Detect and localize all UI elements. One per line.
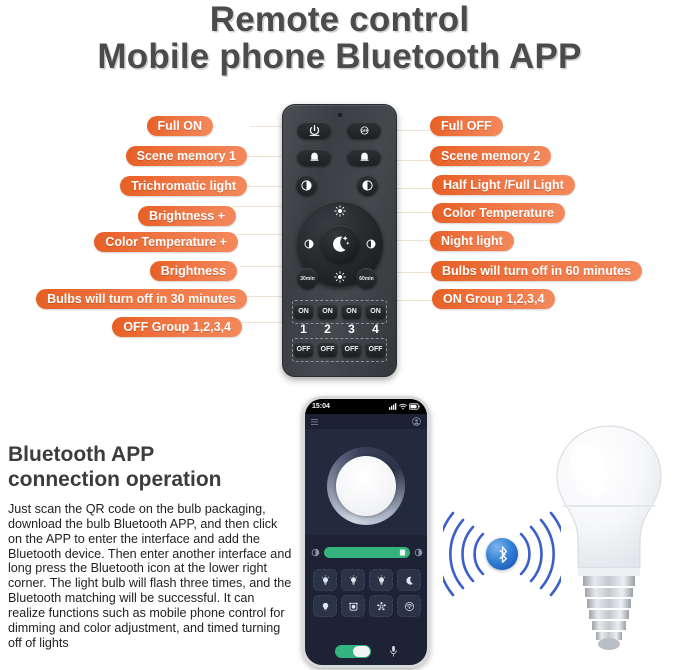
night-light-button[interactable] xyxy=(321,225,359,263)
callout-scene-memory-1[interactable]: Scene memory 1 xyxy=(126,146,247,166)
bell-icon xyxy=(308,151,321,164)
bluetooth-icon xyxy=(495,546,510,563)
tile-bulb-plain[interactable] xyxy=(313,595,337,617)
callout-night-light[interactable]: Night light xyxy=(430,231,514,251)
group-2-off-button[interactable]: OFF xyxy=(318,342,337,357)
battery-icon xyxy=(409,403,420,410)
group-4-number: 4 xyxy=(366,321,385,337)
phone-bottom-bar xyxy=(305,641,427,661)
half-circle-icon xyxy=(361,179,374,192)
bulb-icon xyxy=(320,575,331,586)
section-heading-line-2: connection operation xyxy=(8,468,288,493)
section-heading: Bluetooth APP connection operation xyxy=(8,443,288,493)
color-temp-icon xyxy=(300,179,313,192)
svg-text:OFF: OFF xyxy=(360,129,368,133)
page-title: Remote control Mobile phone Bluetooth AP… xyxy=(0,0,679,76)
bulb-icon xyxy=(348,575,359,586)
bluetooth-connection-graphic xyxy=(443,506,561,602)
smartphone-mockup: 15:04 xyxy=(302,396,430,668)
bulb-icon xyxy=(320,601,331,612)
section-body-text: Just scan the QR code on the bulb packag… xyxy=(8,502,294,651)
microphone-icon xyxy=(389,645,398,657)
callout-scene-memory-2[interactable]: Scene memory 2 xyxy=(430,146,551,166)
callout-trichromatic-light[interactable]: Trichromatic light xyxy=(120,176,247,196)
timer-30min-label: 30min xyxy=(300,276,314,282)
off-button[interactable]: OFF xyxy=(347,122,381,139)
color-temp-icon xyxy=(365,238,377,250)
dial-center[interactable] xyxy=(336,456,396,516)
connector-right-3 xyxy=(392,188,436,189)
callout-full-on[interactable]: Full ON xyxy=(147,116,213,136)
group-3-on-button[interactable]: ON xyxy=(342,304,361,319)
cellular-signal-icon xyxy=(389,403,397,410)
tile-bulb-cool[interactable] xyxy=(369,569,393,591)
callout-brightness[interactable]: Brightness xyxy=(150,261,237,281)
scene-tile-grid xyxy=(313,569,421,617)
brightness-dial[interactable] xyxy=(327,447,405,525)
callout-on-group[interactable]: ON Group 1,2,3,4 xyxy=(432,289,555,309)
group-keypad: ON ON ON ON 1 2 3 4 OFF OFF OFF OFF xyxy=(292,300,387,362)
callout-half-full-light[interactable]: Half Light /Full Light xyxy=(432,175,575,195)
timer-30min-button[interactable]: 30min xyxy=(297,268,318,289)
bulb-illustration xyxy=(545,418,673,663)
bulb-icon xyxy=(376,575,387,586)
half-full-light-button[interactable] xyxy=(357,175,378,196)
sun-icon xyxy=(334,271,346,283)
brightness-up-button[interactable] xyxy=(334,205,346,217)
tile-color-mode[interactable] xyxy=(369,595,393,617)
trichromatic-button[interactable] xyxy=(296,175,317,196)
group-4-on-button[interactable]: ON xyxy=(366,304,385,319)
color-temp-icon xyxy=(303,238,315,250)
remote-control: OFF xyxy=(282,104,397,377)
callout-color-temperature-up[interactable]: Color Temperature + xyxy=(94,232,238,252)
group-1-off-button[interactable]: OFF xyxy=(294,342,313,357)
scene-memory-2-button[interactable] xyxy=(347,149,381,166)
wifi-icon xyxy=(399,403,407,410)
tile-night-mode[interactable] xyxy=(397,569,421,591)
led-bulb-image xyxy=(545,418,673,663)
callout-off-group[interactable]: OFF Group 1,2,3,4 xyxy=(112,317,242,337)
timer-60min-button[interactable]: 60min xyxy=(356,268,377,289)
tile-bulb-neutral[interactable] xyxy=(341,569,365,591)
title-line-1: Remote control xyxy=(0,2,679,38)
brightness-slider[interactable] xyxy=(324,547,410,558)
group-1-number: 1 xyxy=(294,321,313,337)
tile-bulb-warm[interactable] xyxy=(313,569,337,591)
status-time: 15:04 xyxy=(312,403,330,410)
menu-icon xyxy=(311,418,319,426)
callout-brightness-up[interactable]: Brightness + xyxy=(138,206,236,226)
slider-handle-icon xyxy=(399,549,406,556)
connector-right-7 xyxy=(392,300,436,301)
alarm-clock-icon xyxy=(348,601,359,612)
brightness-slider-row xyxy=(311,545,423,559)
sun-icon xyxy=(334,205,346,217)
power-icon xyxy=(308,124,321,137)
color-wheel-icon xyxy=(376,601,387,612)
group-1-on-button[interactable]: ON xyxy=(294,304,313,319)
group-3-off-button[interactable]: OFF xyxy=(342,342,361,357)
callout-off-30-minutes[interactable]: Bulbs will turn off in 30 minutes xyxy=(36,289,247,309)
infographic-canvas: Remote control Mobile phone Bluetooth AP… xyxy=(0,0,679,670)
dynamic-island xyxy=(343,401,389,414)
group-2-on-button[interactable]: ON xyxy=(318,304,337,319)
color-temp-up-button[interactable] xyxy=(365,238,377,250)
bluetooth-badge xyxy=(486,538,518,570)
dim-high-icon xyxy=(414,548,423,557)
color-temp-down-button[interactable] xyxy=(303,238,315,250)
callout-full-off[interactable]: Full OFF xyxy=(430,116,503,136)
status-icons xyxy=(389,403,420,410)
dim-low-icon xyxy=(311,548,320,557)
phone-screen: 15:04 xyxy=(305,399,427,665)
callout-color-temperature[interactable]: Color Temperature xyxy=(432,203,565,223)
timer-60min-label: 60min xyxy=(359,276,373,282)
off-icon: OFF xyxy=(357,124,372,137)
section-heading-line-1: Bluetooth APP xyxy=(8,443,288,468)
moon-stars-icon xyxy=(327,231,353,257)
app-header xyxy=(305,414,427,429)
tile-bluetooth-pair[interactable] xyxy=(397,595,421,617)
group-3-number: 3 xyxy=(342,321,361,337)
account-circle-icon xyxy=(412,417,421,426)
title-line-2: Mobile phone Bluetooth APP xyxy=(0,39,679,75)
brightness-down-button[interactable] xyxy=(334,271,346,283)
bell-icon xyxy=(358,151,371,164)
signal-icon xyxy=(404,601,415,612)
moon-icon xyxy=(404,575,415,586)
power-toggle[interactable] xyxy=(335,645,371,658)
tile-timer[interactable] xyxy=(341,595,365,617)
group-2-number: 2 xyxy=(318,321,337,337)
ir-led-icon xyxy=(338,113,342,117)
group-4-off-button[interactable]: OFF xyxy=(366,342,385,357)
scene-memory-1-button[interactable] xyxy=(297,149,331,166)
toggle-knob[interactable] xyxy=(353,646,370,657)
dial-panel xyxy=(305,429,427,535)
callout-off-60-minutes[interactable]: Bulbs will turn off in 60 minutes xyxy=(431,261,642,281)
power-button[interactable] xyxy=(297,122,331,139)
